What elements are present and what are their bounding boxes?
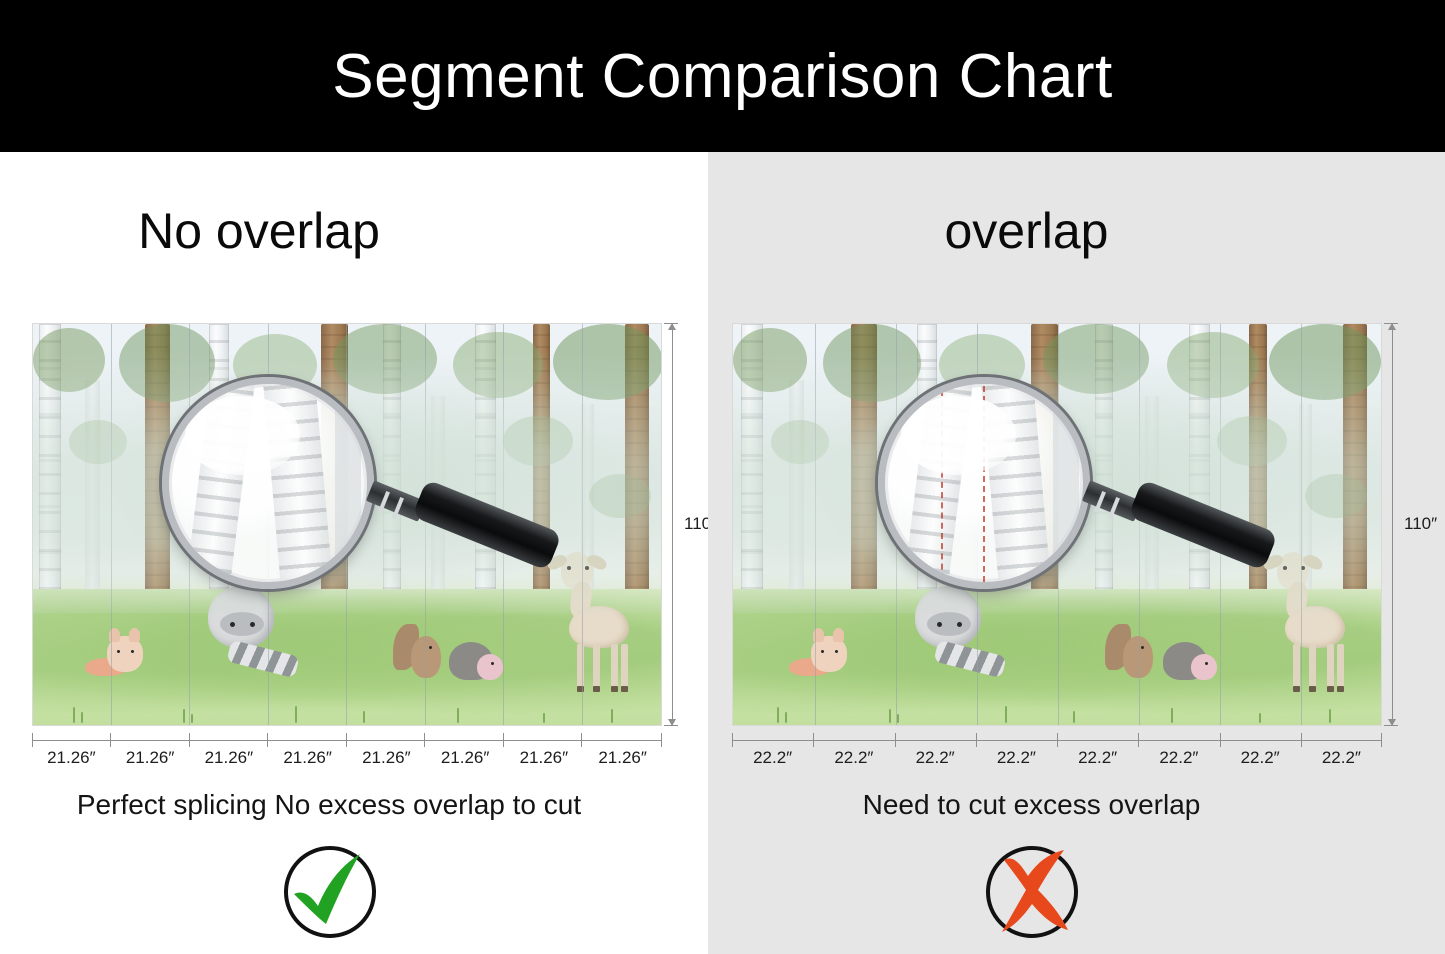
fox-illustration-right	[789, 624, 853, 684]
segment-label: 22.2″	[1301, 748, 1382, 768]
panel-seam	[111, 324, 112, 725]
overlap-seam-line	[983, 386, 985, 589]
check-mark-icon	[278, 840, 382, 944]
caption-no-overlap: Perfect splicing No excess overlap to cu…	[0, 789, 708, 821]
segment-label: 22.2″	[1057, 748, 1138, 768]
segment-label: 22.2″	[976, 748, 1057, 768]
segment-label: 21.26″	[32, 748, 111, 768]
fox-illustration-left	[85, 624, 149, 684]
panel-seam	[582, 324, 583, 725]
squirrel-illustration-left	[393, 624, 447, 684]
segment-label: 21.26″	[505, 748, 584, 768]
mural-figure-overlap	[732, 323, 1382, 726]
segment-label: 21.26″	[190, 748, 269, 768]
deer-illustration-left	[541, 552, 631, 692]
page-title: Segment Comparison Chart	[332, 41, 1112, 112]
overlap-seam-line	[941, 390, 943, 589]
magnifying-glass-icon-left	[162, 377, 532, 607]
segment-label: 21.26″	[111, 748, 190, 768]
panel-no-overlap: No overlap	[0, 152, 708, 954]
segment-label: 22.2″	[813, 748, 894, 768]
segment-label: 21.26″	[268, 748, 347, 768]
segment-label: 22.2″	[895, 748, 976, 768]
verdict-badge-no-overlap	[278, 840, 382, 944]
squirrel-illustration-right	[1105, 624, 1159, 684]
magnifier-lens-right	[878, 377, 1090, 589]
caption-overlap: Need to cut excess overlap	[708, 789, 1445, 821]
segment-label: 21.26″	[426, 748, 505, 768]
hedgehog-illustration-right	[1163, 640, 1221, 688]
panel-overlap: overlap	[708, 152, 1445, 954]
cross-mark-icon	[980, 840, 1084, 944]
deer-illustration-right	[1257, 552, 1347, 692]
segment-label: 21.26″	[583, 748, 662, 768]
segment-label: 22.2″	[732, 748, 813, 768]
panel-seam-overlap	[1301, 324, 1302, 725]
header-bar: Segment Comparison Chart	[0, 0, 1445, 152]
segment-label: 21.26″	[347, 748, 426, 768]
magnifier-lens-left	[162, 377, 374, 589]
segment-label: 22.2″	[1138, 748, 1219, 768]
verdict-badge-overlap	[980, 840, 1084, 944]
panel-seam-overlap	[815, 324, 816, 725]
comparison-panels: No overlap	[0, 152, 1445, 954]
panel-heading-no-overlap: No overlap	[0, 202, 708, 260]
mural-figure-no-overlap	[32, 323, 662, 726]
magnifying-glass-icon-right	[878, 377, 1248, 607]
height-label-right: 110″	[1404, 514, 1437, 534]
screenshot-root: Segment Comparison Chart No overlap	[0, 0, 1445, 954]
panel-heading-overlap: overlap	[708, 202, 1445, 260]
segment-label: 22.2″	[1220, 748, 1301, 768]
hedgehog-illustration-left	[449, 640, 507, 688]
